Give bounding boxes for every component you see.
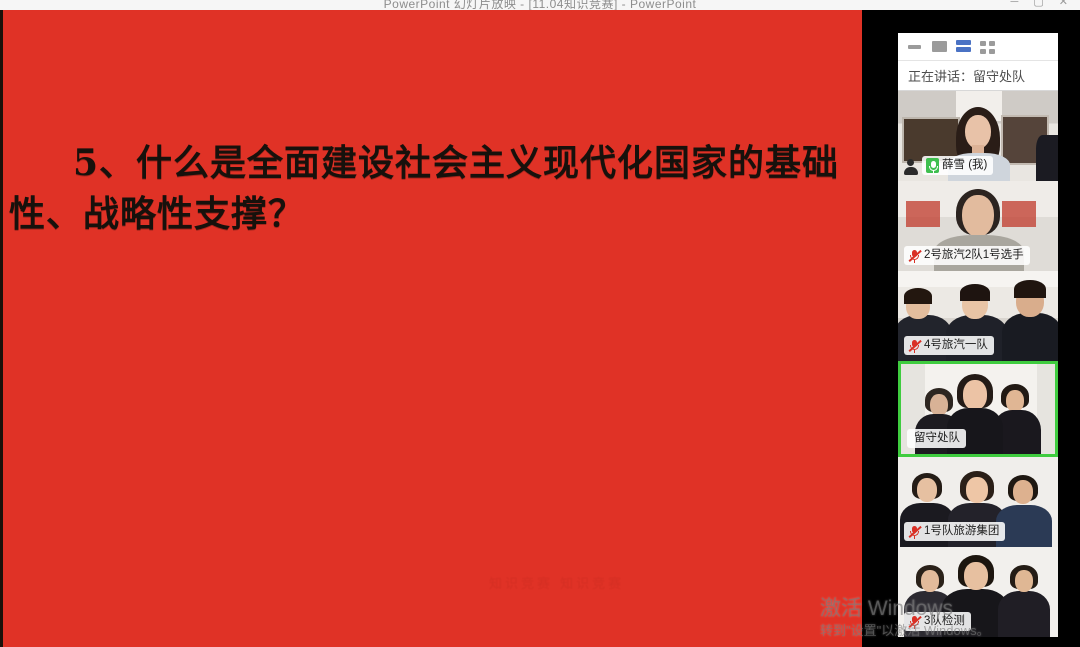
- mic-on-icon: [926, 158, 939, 173]
- participant-label: 3队检测: [904, 612, 971, 631]
- participant-name: 留守处队: [914, 429, 960, 448]
- participant-label: 2号旅汽2队1号选手: [904, 246, 1030, 265]
- meeting-panel: 正在讲话：留守处队 薛雪 (我): [898, 33, 1058, 637]
- video-tile[interactable]: 2号旅汽2队1号选手: [898, 181, 1058, 271]
- stacked-layout-icon[interactable]: [956, 40, 971, 53]
- window-titlebar: PowerPoint 幻灯片放映 - [11.04知识竞赛] - PowerPo…: [0, 0, 1080, 10]
- slide-watermark: 知识竞赛 知识竞赛: [489, 578, 699, 647]
- mic-muted-icon: [908, 249, 921, 263]
- minimize-layout-icon[interactable]: [908, 40, 923, 53]
- mic-muted-icon: [908, 525, 921, 539]
- slide-question-text: 5、什么是全面建设社会主义现代化国家的基础性、战略性支撑？: [3, 138, 862, 240]
- video-tile-list: 薛雪 (我) 2号旅汽2队1号选手: [898, 91, 1058, 637]
- grid-layout-icon[interactable]: [980, 40, 995, 53]
- participant-name: 1号队旅游集团: [924, 522, 999, 541]
- video-tile[interactable]: 4号旅汽一队: [898, 271, 1058, 361]
- participant-label: 留守处队: [907, 429, 966, 448]
- window-controls[interactable]: ─ ▢ ✕: [1010, 0, 1074, 8]
- participant-name: 4号旅汽一队: [924, 336, 988, 355]
- mic-muted-icon: [908, 339, 921, 353]
- powerpoint-slide[interactable]: 5、什么是全面建设社会主义现代化国家的基础性、战略性支撑？ 知识竞赛 知识竞赛: [3, 10, 862, 647]
- video-tile[interactable]: 薛雪 (我): [898, 91, 1058, 181]
- video-tile-active-speaker[interactable]: 留守处队: [898, 361, 1058, 457]
- participant-label: 4号旅汽一队: [904, 336, 994, 355]
- mic-muted-icon: [908, 615, 921, 629]
- participant-name: 2号旅汽2队1号选手: [924, 246, 1024, 265]
- video-tile[interactable]: 1号队旅游集团: [898, 457, 1058, 547]
- participant-label: 薛雪 (我): [922, 156, 993, 175]
- avatar-icon: [902, 157, 919, 176]
- participant-name: 3队检测: [924, 612, 965, 631]
- single-layout-icon[interactable]: [932, 40, 947, 53]
- participant-name: 薛雪 (我): [942, 156, 987, 175]
- video-tile[interactable]: 3队检测: [898, 547, 1058, 637]
- window-title: PowerPoint 幻灯片放映 - [11.04知识竞赛] - PowerPo…: [384, 0, 697, 10]
- speaking-status: 正在讲话：留守处队: [898, 61, 1058, 91]
- participant-label: 1号队旅游集团: [904, 522, 1005, 541]
- slide-left-edge: [0, 10, 3, 647]
- layout-toolbar: [898, 33, 1058, 61]
- screen-root: PowerPoint 幻灯片放映 - [11.04知识竞赛] - PowerPo…: [0, 0, 1080, 647]
